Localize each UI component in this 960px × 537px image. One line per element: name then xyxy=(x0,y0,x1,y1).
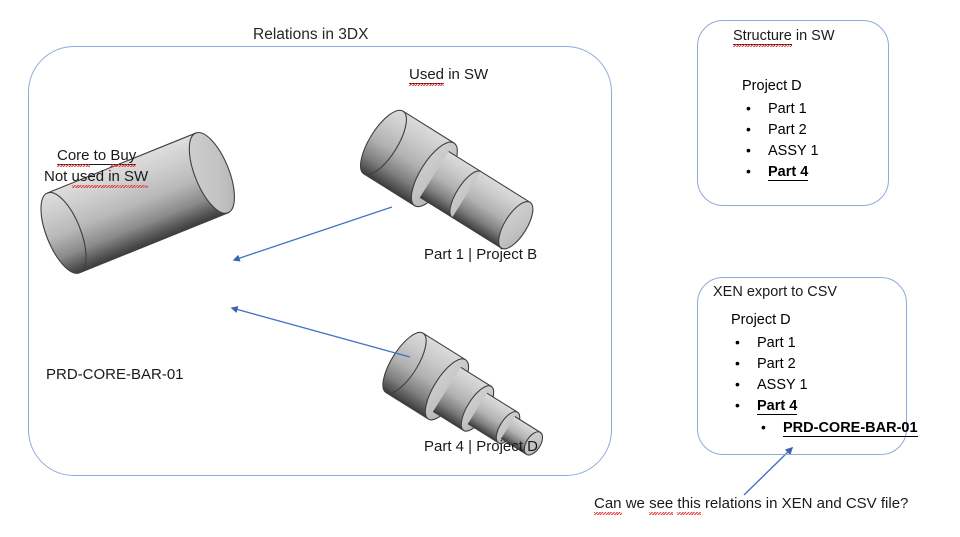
core-heading: Core to Buy xyxy=(57,147,136,164)
structure-item-label: Part 1 xyxy=(768,101,807,117)
spell-this: this xyxy=(677,495,700,512)
structure-panel-heading: Structure in SW xyxy=(733,28,835,44)
spell-structure: Structure xyxy=(733,28,792,44)
list-item: Part 4 xyxy=(731,396,918,417)
list-item: Part 2 xyxy=(742,120,819,141)
list-item: Part 2 xyxy=(731,354,918,375)
xen-panel-heading: XEN export to CSV xyxy=(713,284,837,300)
relations-title: Relations in 3DX xyxy=(253,26,368,44)
spell-used: Used xyxy=(409,66,444,83)
spell-core: Core xyxy=(57,147,90,164)
spell-see: see xyxy=(649,495,673,512)
list-item: Part 1 xyxy=(742,99,819,120)
structure-item-list: Part 1 Part 2 ASSY 1 Part 4 xyxy=(742,99,819,183)
xen-item-label: Part 1 xyxy=(757,335,796,351)
xen-item-list: Part 1 Part 2 ASSY 1 Part 4 PRD-CORE-BAR… xyxy=(731,333,918,439)
list-item: ASSY 1 xyxy=(731,375,918,396)
structure-item-label: Part 2 xyxy=(768,122,807,138)
part1-caption: Part 1 | Project B xyxy=(424,246,537,263)
xen-item-label: Part 2 xyxy=(757,356,796,372)
spell-can: Can xyxy=(594,495,622,512)
core-part-number: PRD-CORE-BAR-01 xyxy=(46,366,184,383)
xen-item-label-highlight: Part 4 xyxy=(757,398,797,415)
arrow-caption-to-xen xyxy=(744,448,792,495)
structure-item-label: ASSY 1 xyxy=(768,143,819,159)
core-subheading: Not used in SW xyxy=(44,168,148,185)
caption-rest: relations in XEN and CSV file? xyxy=(705,495,908,512)
list-item-sub: PRD-CORE-BAR-01 xyxy=(731,417,918,439)
question-caption: Can we see this relations in XEN and CSV… xyxy=(594,495,908,512)
list-item: ASSY 1 xyxy=(742,141,819,162)
structure-item-label-highlight: Part 4 xyxy=(768,164,808,181)
spell-buy: Buy xyxy=(110,147,136,164)
list-item: Part 1 xyxy=(731,333,918,354)
spell-used-in-sw: used in SW xyxy=(72,168,149,185)
slide-canvas: Relations in 3DX xyxy=(0,0,960,537)
xen-sub-item-label: PRD-CORE-BAR-01 xyxy=(783,420,918,437)
used-in-sw-label: Used in SW xyxy=(409,66,488,83)
xen-project: Project D xyxy=(731,312,791,328)
part4-caption: Part 4 | Project D xyxy=(424,438,538,455)
xen-item-label: ASSY 1 xyxy=(757,377,808,393)
list-item: Part 4 xyxy=(742,162,819,183)
caption-word: we xyxy=(626,495,645,512)
structure-project: Project D xyxy=(742,78,802,94)
